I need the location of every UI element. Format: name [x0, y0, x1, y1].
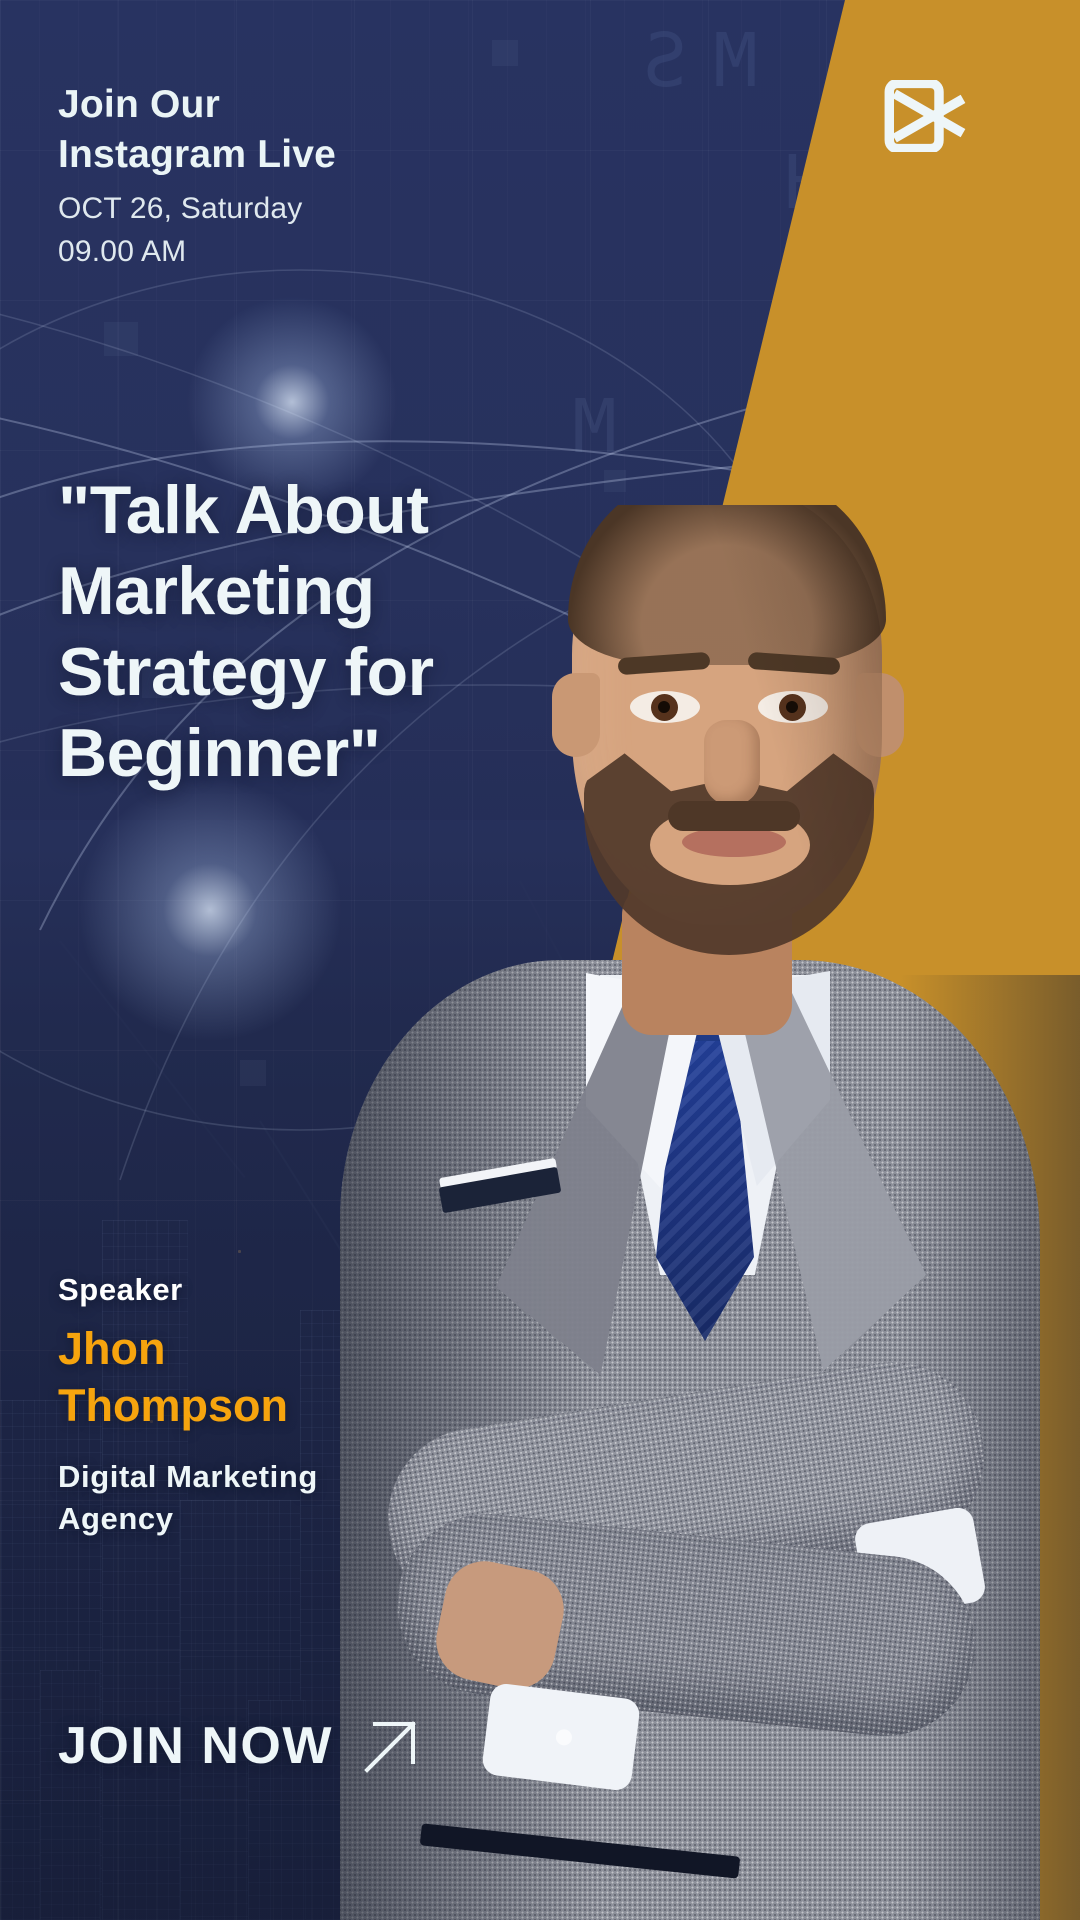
header-title-line1: Join Our [58, 80, 336, 130]
capcut-logo-icon [884, 80, 970, 152]
header-title-line2: Instagram Live [58, 130, 336, 180]
page-title: "Talk About Marketing Strategy for Begin… [58, 470, 528, 794]
arrow-up-right-icon [359, 1714, 423, 1778]
event-header: Join Our Instagram Live OCT 26, Saturday… [58, 80, 336, 273]
poster-canvas: 6 3 MS Go H 676 C a M M M [0, 0, 1080, 1920]
speaker-role-line2: Agency [58, 1498, 318, 1540]
capcut-logo[interactable] [884, 80, 970, 152]
join-now-label: JOIN NOW [58, 1716, 333, 1776]
speaker-info: Speaker Jhon Thompson Digital Marketing … [58, 1272, 318, 1540]
join-now-button[interactable]: JOIN NOW [58, 1714, 423, 1778]
event-date: OCT 26, Saturday [58, 187, 336, 230]
speaker-role-line1: Digital Marketing [58, 1456, 318, 1498]
poster-content: Join Our Instagram Live OCT 26, Saturday… [0, 0, 1080, 1920]
speaker-label: Speaker [58, 1272, 318, 1308]
speaker-name-line2: Thompson [58, 1377, 318, 1434]
event-time: 09.00 AM [58, 230, 336, 273]
speaker-name-line1: Jhon [58, 1320, 318, 1377]
